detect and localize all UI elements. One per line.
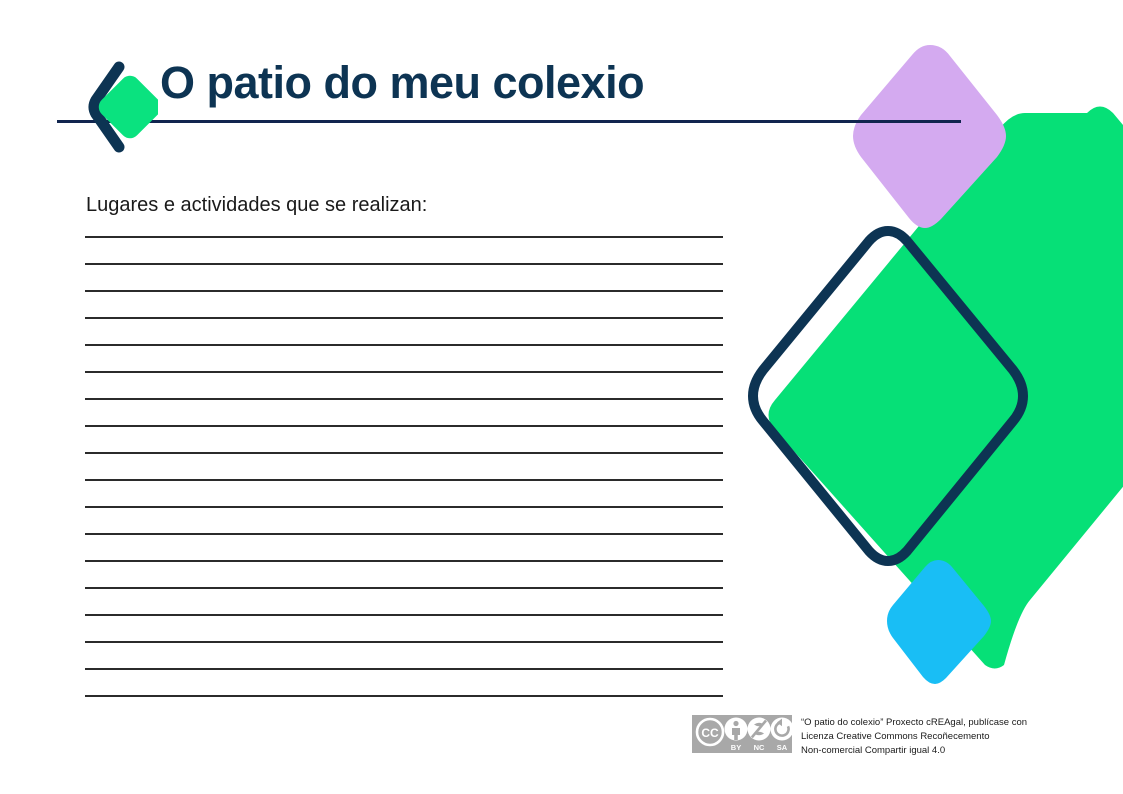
writing-line[interactable]: [85, 425, 723, 427]
writing-line[interactable]: [85, 290, 723, 292]
writing-lines-area[interactable]: [85, 236, 723, 722]
writing-line[interactable]: [85, 371, 723, 373]
prompt-label: Lugares e actividades que se realizan:: [86, 194, 427, 217]
writing-line[interactable]: [85, 479, 723, 481]
by-icon: [725, 718, 748, 741]
green-shape: [769, 107, 1123, 669]
writing-line[interactable]: [85, 614, 723, 616]
license-line-2: Licenza Creative Commons Recoñecemento: [801, 730, 1027, 744]
writing-line[interactable]: [85, 668, 723, 670]
writing-line[interactable]: [85, 533, 723, 535]
writing-line[interactable]: [85, 641, 723, 643]
cc-icon-text: CC: [701, 726, 719, 740]
badge-label-nc: NC: [754, 743, 765, 752]
cyan-diamond: [887, 560, 991, 684]
writing-line[interactable]: [85, 263, 723, 265]
writing-line[interactable]: [85, 587, 723, 589]
writing-line[interactable]: [85, 398, 723, 400]
creative-commons-badge[interactable]: CC BY NC SA: [692, 715, 792, 753]
license-footer: CC BY NC SA: [692, 715, 1027, 757]
writing-line[interactable]: [85, 236, 723, 238]
purple-diamond: [853, 45, 1006, 228]
writing-line[interactable]: [85, 695, 723, 697]
header-divider-rule: [57, 120, 961, 123]
nc-icon: [748, 718, 771, 741]
page-title: O patio do meu colexio: [160, 58, 644, 108]
badge-label-sa: SA: [777, 743, 788, 752]
writing-line[interactable]: [85, 452, 723, 454]
writing-line[interactable]: [85, 560, 723, 562]
writing-line[interactable]: [85, 344, 723, 346]
writing-line[interactable]: [85, 506, 723, 508]
writing-line[interactable]: [85, 317, 723, 319]
license-line-3: Non-comercial Compartir igual 4.0: [801, 744, 1027, 758]
slide-canvas: O patio do meu colexio Lugares e activid…: [0, 0, 1123, 794]
outline-diamond: [753, 231, 1023, 561]
green-diamond-logo: [86, 61, 158, 153]
badge-label-by: BY: [731, 743, 741, 752]
license-line-1: “O patio do colexio” Proxecto cREAgal, p…: [801, 716, 1027, 730]
license-text: “O patio do colexio” Proxecto cREAgal, p…: [801, 715, 1027, 757]
